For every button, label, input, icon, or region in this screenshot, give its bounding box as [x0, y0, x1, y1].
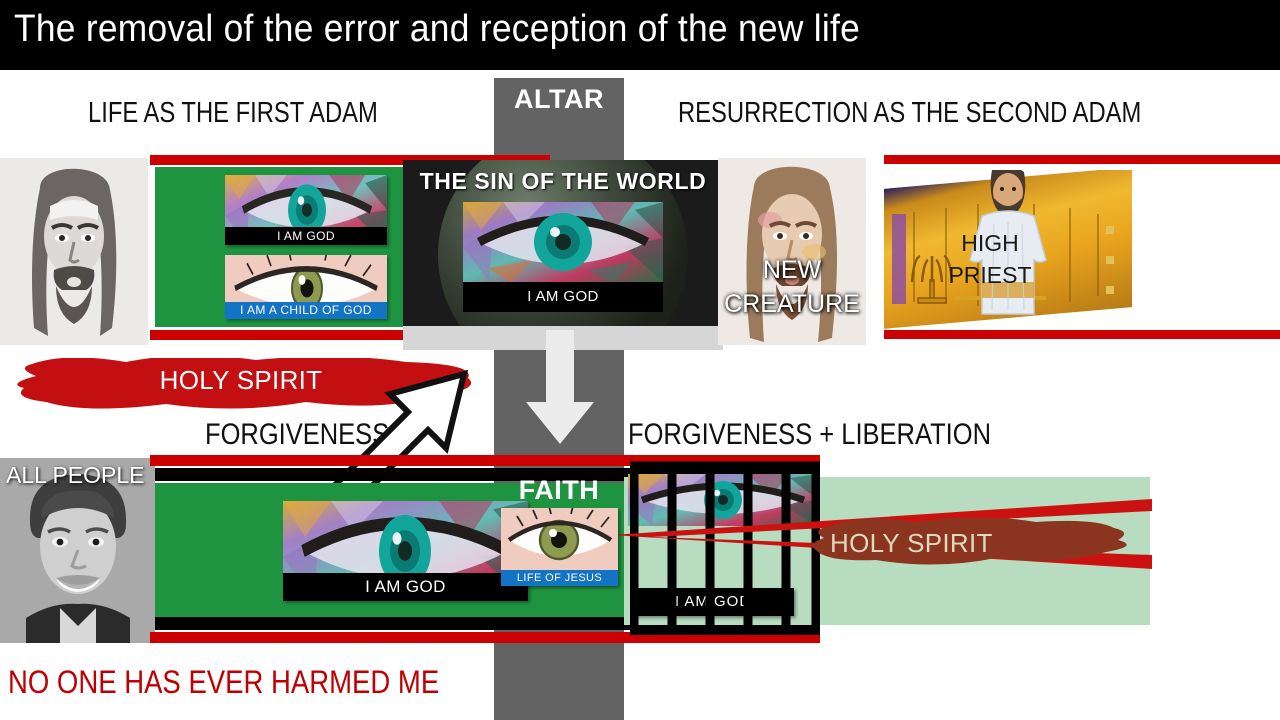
caption-i-am-god-center: I AM GOD [463, 282, 663, 312]
card-life-of-jesus: LIFE OF JESUS [501, 508, 618, 586]
all-people-photo: ALL PEOPLE [0, 458, 155, 643]
new-creature-label-line2: CREATURE [718, 290, 866, 319]
down-arrow-icon [520, 330, 600, 450]
forgiveness-liberation-label: FORGIVENESS + LIBERATION [628, 418, 991, 452]
high-priest-label-line2: PRIEST [940, 262, 1040, 289]
human-eye-icon-faith [501, 508, 618, 570]
card-i-am-god-top: I AM GOD [225, 175, 387, 245]
card-i-am-a-child-of-god: I AM A CHILD OF GOD [225, 255, 387, 319]
jesus-sketch-image [0, 158, 148, 345]
all-people-label: ALL PEOPLE [6, 462, 145, 489]
caption-i-am-a-child-of-god: I AM A CHILD OF GOD [225, 302, 387, 319]
jesus-face-drawing [0, 158, 148, 345]
caption-i-am-god: I AM GOD [225, 227, 387, 245]
heading-resurrection-second-adam: RESURRECTION AS THE SECOND ADAM [678, 97, 1141, 130]
footer-caption: NO ONE HAS EVER HARMED ME [8, 664, 439, 701]
new-creature-label-line1: NEW [718, 256, 866, 285]
high-priest-red-bar-bottom [884, 330, 1280, 339]
altar-label: ALTAR [494, 84, 624, 115]
high-priest-label-line1: HIGH [940, 230, 1040, 257]
page-title: The removal of the error and reception o… [14, 8, 860, 51]
heading-life-as-first-adam: LIFE AS THE FIRST ADAM [88, 97, 378, 130]
new-creature-image: NEW CREATURE [718, 158, 866, 345]
card-i-am-god-bottom: I AM GOD [283, 501, 528, 601]
mosaic-eye-icon-center [463, 202, 663, 282]
caption-life-of-jesus: LIFE OF JESUS [501, 570, 618, 586]
high-priest-red-bar-top [884, 155, 1280, 164]
sin-of-the-world-title: THE SIN OF THE WORLD [403, 168, 723, 195]
temple-image: HIGH PRIEST [884, 170, 1132, 330]
title-bar: The removal of the error and reception o… [0, 0, 1280, 70]
sin-of-the-world-panel: THE SIN OF THE WORLD I AM GOD [403, 160, 723, 345]
holy-spirit-brown-label: HOLY SPIRIT [830, 528, 1130, 559]
faith-label: FAITH [494, 475, 624, 506]
caption-i-am-god-bottom: I AM GOD [283, 573, 528, 601]
